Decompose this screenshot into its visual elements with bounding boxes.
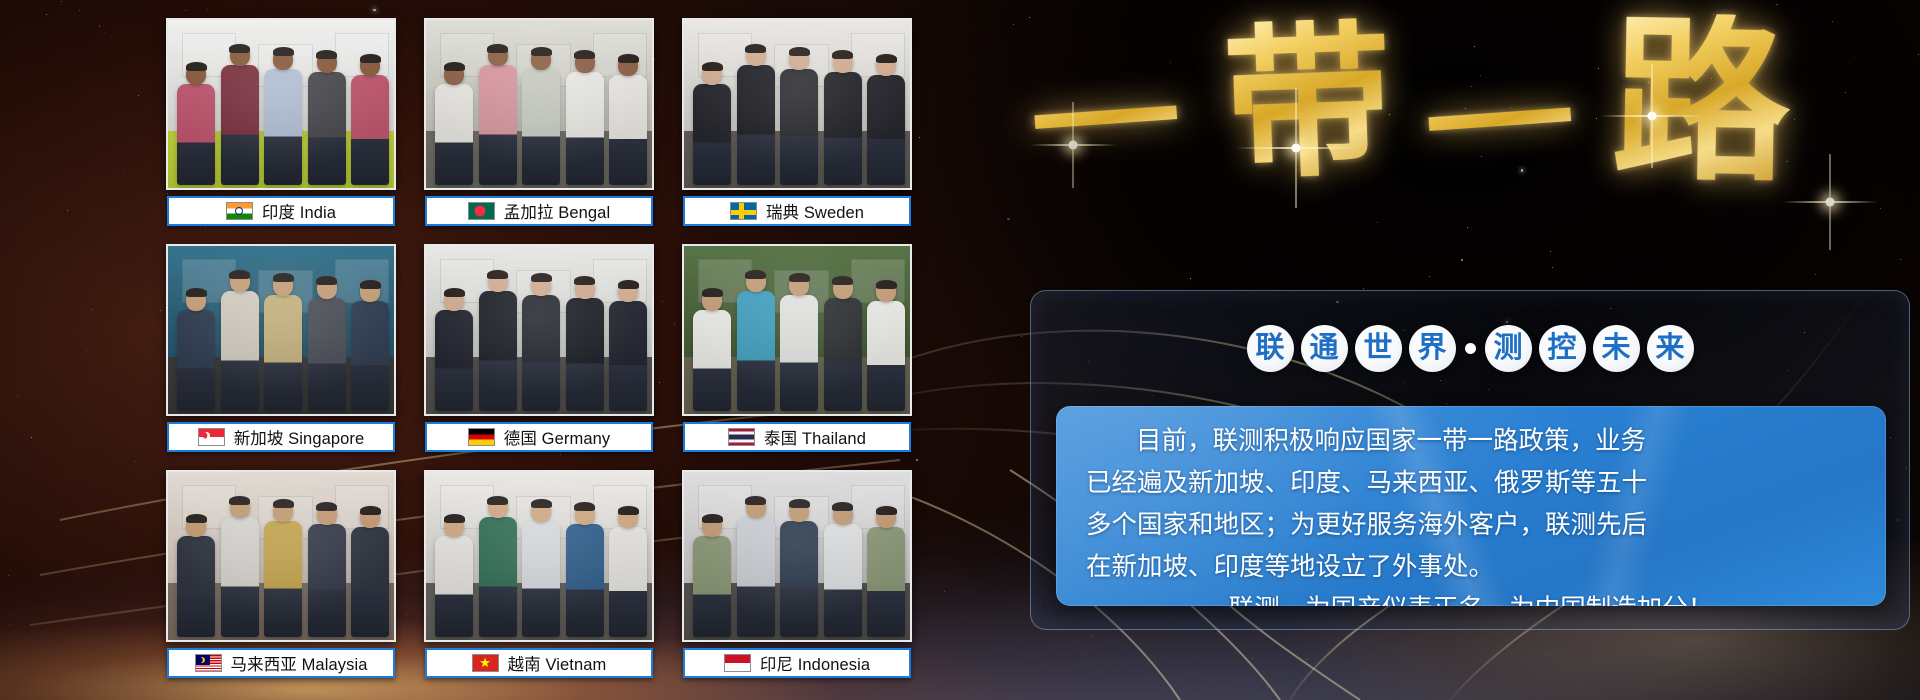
slogan-char-4: 界 <box>1409 325 1456 372</box>
photo-malaysia <box>166 470 396 642</box>
photo-label-text-sweden: 瑞典 Sweden <box>766 199 864 223</box>
photo-thailand <box>682 244 912 416</box>
flag-india-icon <box>226 202 253 220</box>
photo-label-text-india: 印度 India <box>262 199 336 223</box>
slogan-char-2: 通 <box>1301 325 1348 372</box>
description-line-2: 已经遍及新加坡、印度、马来西亚、俄罗斯等五十 <box>1086 462 1856 504</box>
photo-card-vietnam[interactable]: 越南 Vietnam <box>424 470 654 682</box>
photo-label-germany: 德国 Germany <box>425 422 653 452</box>
slogan-char-8: 未 <box>1593 325 1640 372</box>
flag-bangladesh-icon <box>468 202 495 220</box>
photo-card-singapore[interactable]: 新加坡 Singapore <box>166 244 396 456</box>
photo-india <box>166 18 396 190</box>
flag-singapore-icon <box>198 428 225 446</box>
slogan-char-6: 测 <box>1485 325 1532 372</box>
country-photo-grid: 印度 India孟加拉 Bengal瑞典 Sweden新加坡 Singapore… <box>166 18 928 682</box>
photo-vietnam <box>424 470 654 642</box>
photo-label-thailand: 泰国 Thailand <box>683 422 911 452</box>
description-line-4: 在新加坡、印度等地设立了外事处。 <box>1086 546 1856 588</box>
photo-card-germany[interactable]: 德国 Germany <box>424 244 654 456</box>
photo-bengal <box>424 18 654 190</box>
belt-and-road-calligraphy: 一 带 一 路 <box>1040 6 1902 216</box>
photo-label-india: 印度 India <box>167 196 395 226</box>
flag-indonesia-icon <box>724 654 751 672</box>
photo-label-text-vietnam: 越南 Vietnam <box>508 651 607 675</box>
flag-germany-icon <box>468 428 495 446</box>
photo-card-bengal[interactable]: 孟加拉 Bengal <box>424 18 654 230</box>
slogan-char-1: 联 <box>1247 325 1294 372</box>
calligraphy-char-2: 带 <box>1221 17 1395 191</box>
photo-indonesia <box>682 470 912 642</box>
photo-card-indonesia[interactable]: 印尼 Indonesia <box>682 470 912 682</box>
photo-label-bengal: 孟加拉 Bengal <box>425 196 653 226</box>
flag-sweden-icon <box>730 202 757 220</box>
description-text-box: 目前，联测积极响应国家一带一路政策，业务已经遍及新加坡、印度、马来西亚、俄罗斯等… <box>1056 406 1886 606</box>
photo-card-thailand[interactable]: 泰国 Thailand <box>682 244 912 456</box>
photo-label-indonesia: 印尼 Indonesia <box>683 648 911 678</box>
photo-label-text-singapore: 新加坡 Singapore <box>234 425 365 449</box>
flag-malaysia-icon <box>195 654 222 672</box>
photo-sweden <box>682 18 912 190</box>
flag-vietnam-icon <box>472 654 499 672</box>
description-line-3: 多个国家和地区；为更好服务海外客户，联测先后 <box>1086 504 1856 546</box>
photo-label-malaysia: 马来西亚 Malaysia <box>167 648 395 678</box>
slogan-char-9: 来 <box>1647 325 1694 372</box>
slogan-char-7: 控 <box>1539 325 1586 372</box>
flag-thailand-icon <box>728 428 755 446</box>
calligraphy-char-1: 一 <box>1027 59 1185 189</box>
right-content-panel: 一 带 一 路 联通世界测控未来 目前，联测积极响应国家一带一路政策，业务已经遍… <box>1022 0 1920 700</box>
calligraphy-char-3: 一 <box>1421 61 1579 191</box>
belt-and-road-banner: 印度 India孟加拉 Bengal瑞典 Sweden新加坡 Singapore… <box>0 0 1920 700</box>
slogan-separator-dot <box>1465 343 1476 354</box>
photo-label-text-bengal: 孟加拉 Bengal <box>504 199 610 223</box>
info-card: 联通世界测控未来 目前，联测积极响应国家一带一路政策，业务已经遍及新加坡、印度、… <box>1030 290 1910 630</box>
photo-card-india[interactable]: 印度 India <box>166 18 396 230</box>
photo-label-text-indonesia: 印尼 Indonesia <box>760 651 870 675</box>
photo-label-vietnam: 越南 Vietnam <box>425 648 653 678</box>
photo-label-text-thailand: 泰国 Thailand <box>764 425 866 449</box>
photo-label-sweden: 瑞典 Sweden <box>683 196 911 226</box>
photo-singapore <box>166 244 396 416</box>
description-line-5: 联测，为国产仪表正名，为中国制造加分！ <box>1086 588 1856 606</box>
calligraphy-char-4: 路 <box>1610 12 1791 193</box>
photo-label-text-malaysia: 马来西亚 Malaysia <box>231 651 368 675</box>
slogan-char-3: 世 <box>1355 325 1402 372</box>
photo-label-text-germany: 德国 Germany <box>504 425 610 449</box>
photo-card-malaysia[interactable]: 马来西亚 Malaysia <box>166 470 396 682</box>
photo-label-singapore: 新加坡 Singapore <box>167 422 395 452</box>
photo-card-sweden[interactable]: 瑞典 Sweden <box>682 18 912 230</box>
photo-germany <box>424 244 654 416</box>
description-line-1: 目前，联测积极响应国家一带一路政策，业务 <box>1086 420 1856 462</box>
sparkle-icon <box>1782 154 1878 250</box>
company-slogan: 联通世界测控未来 <box>1031 325 1909 372</box>
